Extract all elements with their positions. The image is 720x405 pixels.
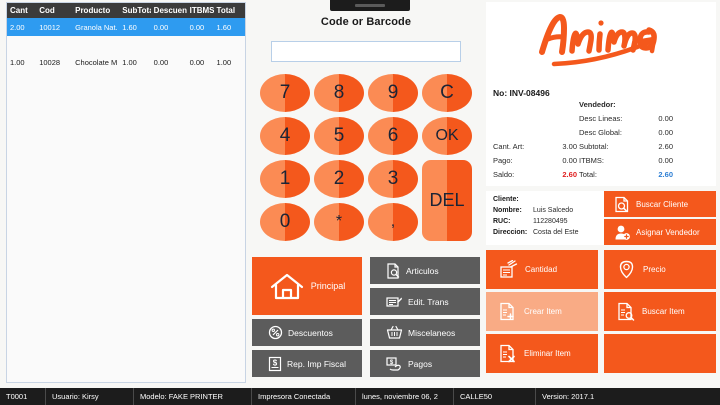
nav-edit-trans-label: Edit. Trans: [408, 297, 449, 307]
payment-hand-icon: $: [386, 356, 403, 372]
eliminar-item-button[interactable]: Eliminar Item: [486, 334, 598, 373]
code-or-barcode-label: Code or Barcode: [252, 16, 480, 28]
items-table-body: 2.00 10012 Granola Nat. 1.60 0.00 0.00 1…: [7, 18, 245, 71]
cell-itbms: 0.00: [187, 18, 214, 36]
pago-label: Pago:: [493, 156, 539, 165]
nav-pagos-label: Pagos: [408, 359, 432, 369]
client-line-cliente: Cliente:: [493, 196, 598, 203]
status-fecha: lunes, noviembre 06, 2: [356, 388, 454, 405]
desc-global-value: 0.00: [631, 128, 675, 137]
fiscal-report-icon: $: [268, 356, 282, 372]
nav-articulos-button[interactable]: Articulos: [370, 257, 480, 284]
price-tag-icon: [617, 260, 636, 279]
client-action-buttons: Buscar Cliente Asignar Vendedor: [604, 191, 716, 245]
column-header-total[interactable]: Total: [214, 3, 245, 18]
status-bar: T0001 Usuario: Kirsy Modelo: FAKE PRINTE…: [0, 388, 720, 405]
quantity-icon: [499, 260, 518, 279]
saldo-value: 2.60: [539, 170, 579, 179]
animo-logo-icon: [526, 8, 676, 75]
nav-rep-imp-fiscal-button[interactable]: $ Rep. Imp Fiscal: [252, 350, 362, 377]
key-4[interactable]: 4: [260, 117, 310, 155]
desc-lineas-label: Desc Lineas:: [579, 114, 631, 123]
cell-cod: 10028: [36, 53, 72, 71]
key-asterisk[interactable]: *: [314, 203, 364, 241]
navigation-button-grid: Principal Articulos Edit.: [252, 257, 480, 383]
nav-articulos-label: Articulos: [406, 266, 439, 276]
key-delete[interactable]: DEL: [422, 160, 472, 241]
asignar-vendedor-label: Asignar Vendedor: [636, 228, 700, 237]
invoice-number: No: INV-08496: [493, 88, 709, 98]
cell-cant: 1.00: [7, 53, 36, 71]
user-add-icon: [614, 224, 630, 241]
precio-label: Precio: [643, 265, 666, 274]
eliminar-item-label: Eliminar Item: [524, 349, 571, 358]
key-clear[interactable]: C: [422, 74, 472, 112]
cell-subtotal: 1.00: [119, 53, 150, 71]
key-ok[interactable]: OK: [422, 117, 472, 155]
cell-subtotal: 1.60: [119, 18, 150, 36]
vendedor-label: Vendedor:: [579, 100, 631, 109]
crear-item-button[interactable]: Crear Item: [486, 292, 598, 331]
column-header-cod[interactable]: Cod: [36, 3, 72, 18]
totals-grid: Vendedor: Desc Lineas: 0.00 Desc Global:…: [493, 100, 709, 179]
itbms-value: 0.00: [631, 156, 675, 165]
home-icon: [269, 271, 305, 301]
pos-application-window: Cant Cod Producto SubTotal Descuento ITB…: [0, 0, 720, 405]
document-search-icon: [386, 263, 401, 279]
buscar-item-label: Buscar Item: [642, 307, 685, 316]
status-sucursal: CALLE50: [454, 388, 536, 405]
subtotal-value: 2.60: [631, 142, 675, 151]
ruc-value: 112280495: [533, 218, 568, 225]
column-header-itbms[interactable]: ITBMS: [187, 3, 214, 18]
document-add-icon: [499, 302, 517, 321]
right-panel: No: INV-08496 Vendedor: Desc Lineas: 0.0…: [486, 2, 716, 383]
cant-art-value: 3.00: [539, 142, 579, 151]
asignar-vendedor-button[interactable]: Asignar Vendedor: [604, 219, 716, 245]
cell-producto: Chocolate M: [72, 53, 119, 71]
basket-icon: [386, 325, 403, 340]
cell-descuento: 0.00: [151, 53, 187, 71]
key-comma[interactable]: ,: [368, 203, 418, 241]
ruc-label: RUC:: [493, 218, 533, 225]
key-6[interactable]: 6: [368, 117, 418, 155]
column-header-producto[interactable]: Producto: [72, 3, 119, 18]
empty-slot: [604, 334, 716, 373]
client-info-card: Cliente: Nombre: Luis Salcedo RUC: 11228…: [486, 191, 604, 245]
key-7[interactable]: 7: [260, 74, 310, 112]
cell-descuento: 0.00: [151, 18, 187, 36]
client-line-nombre: Nombre: Luis Salcedo: [493, 207, 598, 214]
cell-total: 1.00: [214, 53, 245, 71]
column-header-descuento[interactable]: Descuento: [151, 3, 187, 18]
document-delete-icon: [499, 344, 517, 363]
numeric-keypad: 7 8 9 C 4 5 6 OK 1 2 3 DEL 0 * ,: [260, 74, 472, 242]
total-value: 2.60: [631, 170, 675, 179]
precio-button[interactable]: Precio: [604, 250, 716, 289]
client-section: Cliente: Nombre: Luis Salcedo RUC: 11228…: [486, 191, 716, 245]
client-line-direccion: Direccion: Costa del Este: [493, 229, 598, 236]
saldo-label: Saldo:: [493, 170, 539, 179]
column-header-cant[interactable]: Cant: [7, 3, 36, 18]
nav-edit-trans-button[interactable]: Edit. Trans: [370, 288, 480, 315]
client-line-ruc: RUC: 112280495: [493, 218, 598, 225]
buscar-cliente-label: Buscar Cliente: [636, 200, 688, 209]
nav-descuentos-label: Descuentos: [288, 328, 333, 338]
cell-itbms: 0.00: [187, 53, 214, 71]
nav-principal-button[interactable]: Principal: [252, 257, 362, 315]
pago-value: 0.00: [539, 156, 579, 165]
status-terminal: T0001: [0, 388, 46, 405]
client-search-icon: [614, 196, 630, 213]
table-row-spacer: [7, 36, 245, 53]
key-1[interactable]: 1: [260, 160, 310, 198]
cell-cant: 2.00: [7, 18, 36, 36]
cell-producto: Granola Nat.: [72, 18, 119, 36]
spacer-cell: [7, 36, 245, 53]
status-printer-connection: Impresora Conectada: [252, 388, 356, 405]
buscar-item-button[interactable]: Buscar Item: [604, 292, 716, 331]
discount-badge-icon: [268, 325, 283, 340]
items-table-header-row: Cant Cod Producto SubTotal Descuento ITB…: [7, 3, 245, 18]
crear-item-label: Crear Item: [524, 307, 562, 316]
key-0[interactable]: 0: [260, 203, 310, 241]
table-row[interactable]: 1.00 10028 Chocolate M 1.00 0.00 0.00 1.…: [7, 53, 245, 71]
key-8[interactable]: 8: [314, 74, 364, 112]
cantidad-label: Cantidad: [525, 265, 557, 274]
cell-cod: 10012: [36, 18, 72, 36]
document-search-icon: [617, 302, 635, 321]
key-5[interactable]: 5: [314, 117, 364, 155]
nav-rep-imp-fiscal-label: Rep. Imp Fiscal: [287, 359, 346, 369]
key-9[interactable]: 9: [368, 74, 418, 112]
direccion-label: Direccion:: [493, 229, 533, 236]
nombre-value: Luis Salcedo: [533, 207, 573, 214]
buscar-cliente-button[interactable]: Buscar Cliente: [604, 191, 716, 217]
column-header-subtotal[interactable]: SubTotal: [119, 3, 150, 18]
code-barcode-input[interactable]: [271, 41, 461, 62]
edit-list-icon: [386, 295, 403, 309]
invoice-summary-card: No: INV-08496 Vendedor: Desc Lineas: 0.0…: [486, 80, 716, 186]
desc-lineas-value: 0.00: [631, 114, 675, 123]
cliente-label: Cliente:: [493, 196, 533, 203]
table-row[interactable]: 2.00 10012 Granola Nat. 1.60 0.00 0.00 1…: [7, 18, 245, 36]
nav-miscelaneos-button[interactable]: Miscelaneos: [370, 319, 480, 346]
status-usuario: Usuario: Kirsy: [46, 388, 134, 405]
nav-miscelaneos-label: Miscelaneos: [408, 328, 455, 338]
items-table-head: Cant Cod Producto SubTotal Descuento ITB…: [7, 3, 245, 18]
nav-principal-label: Principal: [311, 281, 346, 291]
svg-text:$: $: [273, 358, 278, 367]
subtotal-label: Subtotal:: [579, 142, 631, 151]
direccion-value: Costa del Este: [533, 229, 579, 236]
desc-global-label: Desc Global:: [579, 128, 631, 137]
cantidad-button[interactable]: Cantidad: [486, 250, 598, 289]
key-3[interactable]: 3: [368, 160, 418, 198]
nav-descuentos-button[interactable]: Descuentos: [252, 319, 362, 346]
item-action-grid: Cantidad Precio: [486, 250, 716, 373]
cell-total: 1.60: [214, 18, 245, 36]
total-label: Total:: [579, 170, 631, 179]
cant-art-label: Cant. Art:: [493, 142, 539, 151]
items-grid-panel[interactable]: Cant Cod Producto SubTotal Descuento ITB…: [6, 2, 246, 383]
status-modelo: Modelo: FAKE PRINTER: [134, 388, 252, 405]
nav-pagos-button[interactable]: $ Pagos: [370, 350, 480, 377]
key-2[interactable]: 2: [314, 160, 364, 198]
brand-logo-card: [486, 2, 716, 80]
items-table: Cant Cod Producto SubTotal Descuento ITB…: [7, 3, 245, 71]
nombre-label: Nombre:: [493, 207, 533, 214]
status-version: Version: 2017.1: [536, 388, 720, 405]
itbms-label: ITBMS:: [579, 156, 631, 165]
